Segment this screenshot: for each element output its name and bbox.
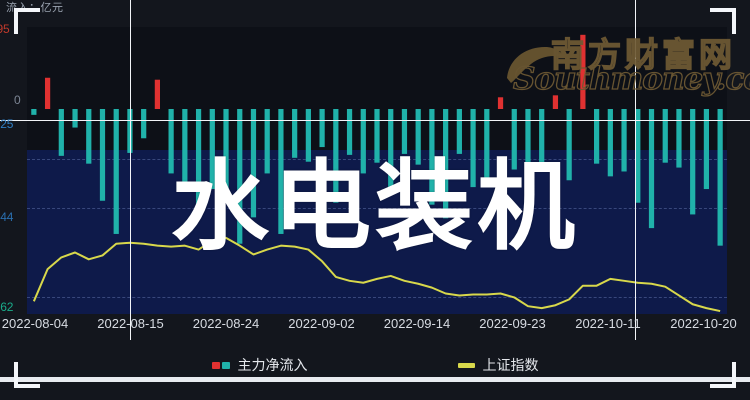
chart-bar: [718, 109, 723, 246]
x-axis-tick-label: 2022-08-15: [97, 316, 164, 331]
chart-bar: [621, 109, 626, 171]
y-axis-tick-label: -325: [0, 117, 13, 131]
chart-bar: [223, 109, 228, 198]
y-axis-tick-label: -962: [0, 300, 13, 314]
chart-bar: [374, 109, 379, 163]
chart-series: [27, 27, 727, 314]
y-axis-tick-label: -644: [0, 210, 13, 224]
chart-bar: [553, 95, 558, 109]
chart-plot-area: [27, 27, 727, 314]
chart-bar: [265, 109, 270, 173]
chart-bar: [457, 109, 462, 154]
chart-bar: [649, 109, 654, 228]
x-axis-tick-label: 2022-10-20: [670, 316, 737, 331]
x-axis-tick-label: 2022-09-23: [479, 316, 546, 331]
chart-bar: [292, 109, 297, 158]
x-axis-tick-label: 2022-10-11: [575, 316, 641, 331]
chart-bar: [704, 109, 709, 189]
corner-bracket-top-right: [710, 8, 736, 34]
x-axis-tick-label: 2022-09-02: [288, 316, 355, 331]
chart-bar: [443, 109, 448, 218]
chart-bar: [72, 109, 77, 128]
chart-bar: [251, 109, 256, 217]
chart-bar: [196, 109, 201, 211]
y-axis-tick-label: 395: [0, 22, 9, 36]
screenshot-root: 流入：亿元 3950-325-644-962 2022-08-042022-08…: [0, 0, 750, 400]
chart-bar: [416, 109, 421, 165]
crosshair-horizontal: [0, 120, 750, 121]
chart-bar: [539, 109, 544, 168]
legend-label-main-net-inflow: 主力净流入: [238, 355, 308, 375]
chart-bar: [690, 109, 695, 214]
y-axis-tick-label: 0: [14, 93, 20, 107]
bottom-bar: [0, 382, 750, 400]
x-axis-tick-label: 2022-09-14: [384, 316, 451, 331]
index-line: [34, 238, 720, 311]
chart-bar: [319, 109, 324, 147]
chart-bar: [169, 109, 174, 173]
chart-bar: [333, 109, 338, 203]
corner-bracket-bottom-left: [14, 362, 40, 388]
crosshair-vertical-right: [635, 0, 636, 340]
chart-bar: [141, 109, 146, 138]
legend-item-main-net-inflow[interactable]: 主力净流入: [212, 355, 308, 375]
legend-bar-swatch-icon: [212, 362, 230, 369]
chart-bar: [210, 109, 215, 189]
crosshair-vertical-left: [130, 0, 131, 340]
chart-bar: [45, 78, 50, 109]
legend-line-swatch-icon: [458, 363, 475, 368]
chart-bar: [347, 109, 352, 155]
chart-bar: [402, 109, 407, 154]
chart-bar: [237, 109, 242, 244]
chart-bar: [31, 109, 36, 115]
chart-bar: [86, 109, 91, 164]
chart-bar: [676, 109, 681, 168]
chart-bar: [498, 97, 503, 109]
legend-label-shanghai-index: 上证指数: [483, 355, 539, 375]
chart-bar: [306, 109, 311, 162]
chart-bar: [388, 109, 393, 191]
x-axis-labels: 2022-08-042022-08-152022-08-242022-09-02…: [0, 316, 750, 340]
chart-bar: [155, 80, 160, 109]
chart-bar: [580, 35, 585, 109]
chart-bar: [114, 109, 119, 234]
chart-legend: 主力净流入 上证指数: [0, 352, 750, 378]
chart-bar: [59, 109, 64, 156]
chart-bar: [512, 109, 517, 170]
chart-bar: [361, 109, 366, 173]
corner-bracket-top-left: [14, 8, 40, 34]
chart-bar: [100, 109, 105, 201]
legend-item-shanghai-index[interactable]: 上证指数: [458, 355, 539, 375]
chart-bar: [594, 109, 599, 164]
chart-bar: [429, 109, 434, 205]
x-axis-tick-label: 2022-08-04: [2, 316, 69, 331]
x-axis-tick-label: 2022-08-24: [193, 316, 260, 331]
chart-bar: [278, 109, 283, 234]
chart-bar: [663, 109, 668, 163]
corner-bracket-bottom-right: [710, 362, 736, 388]
